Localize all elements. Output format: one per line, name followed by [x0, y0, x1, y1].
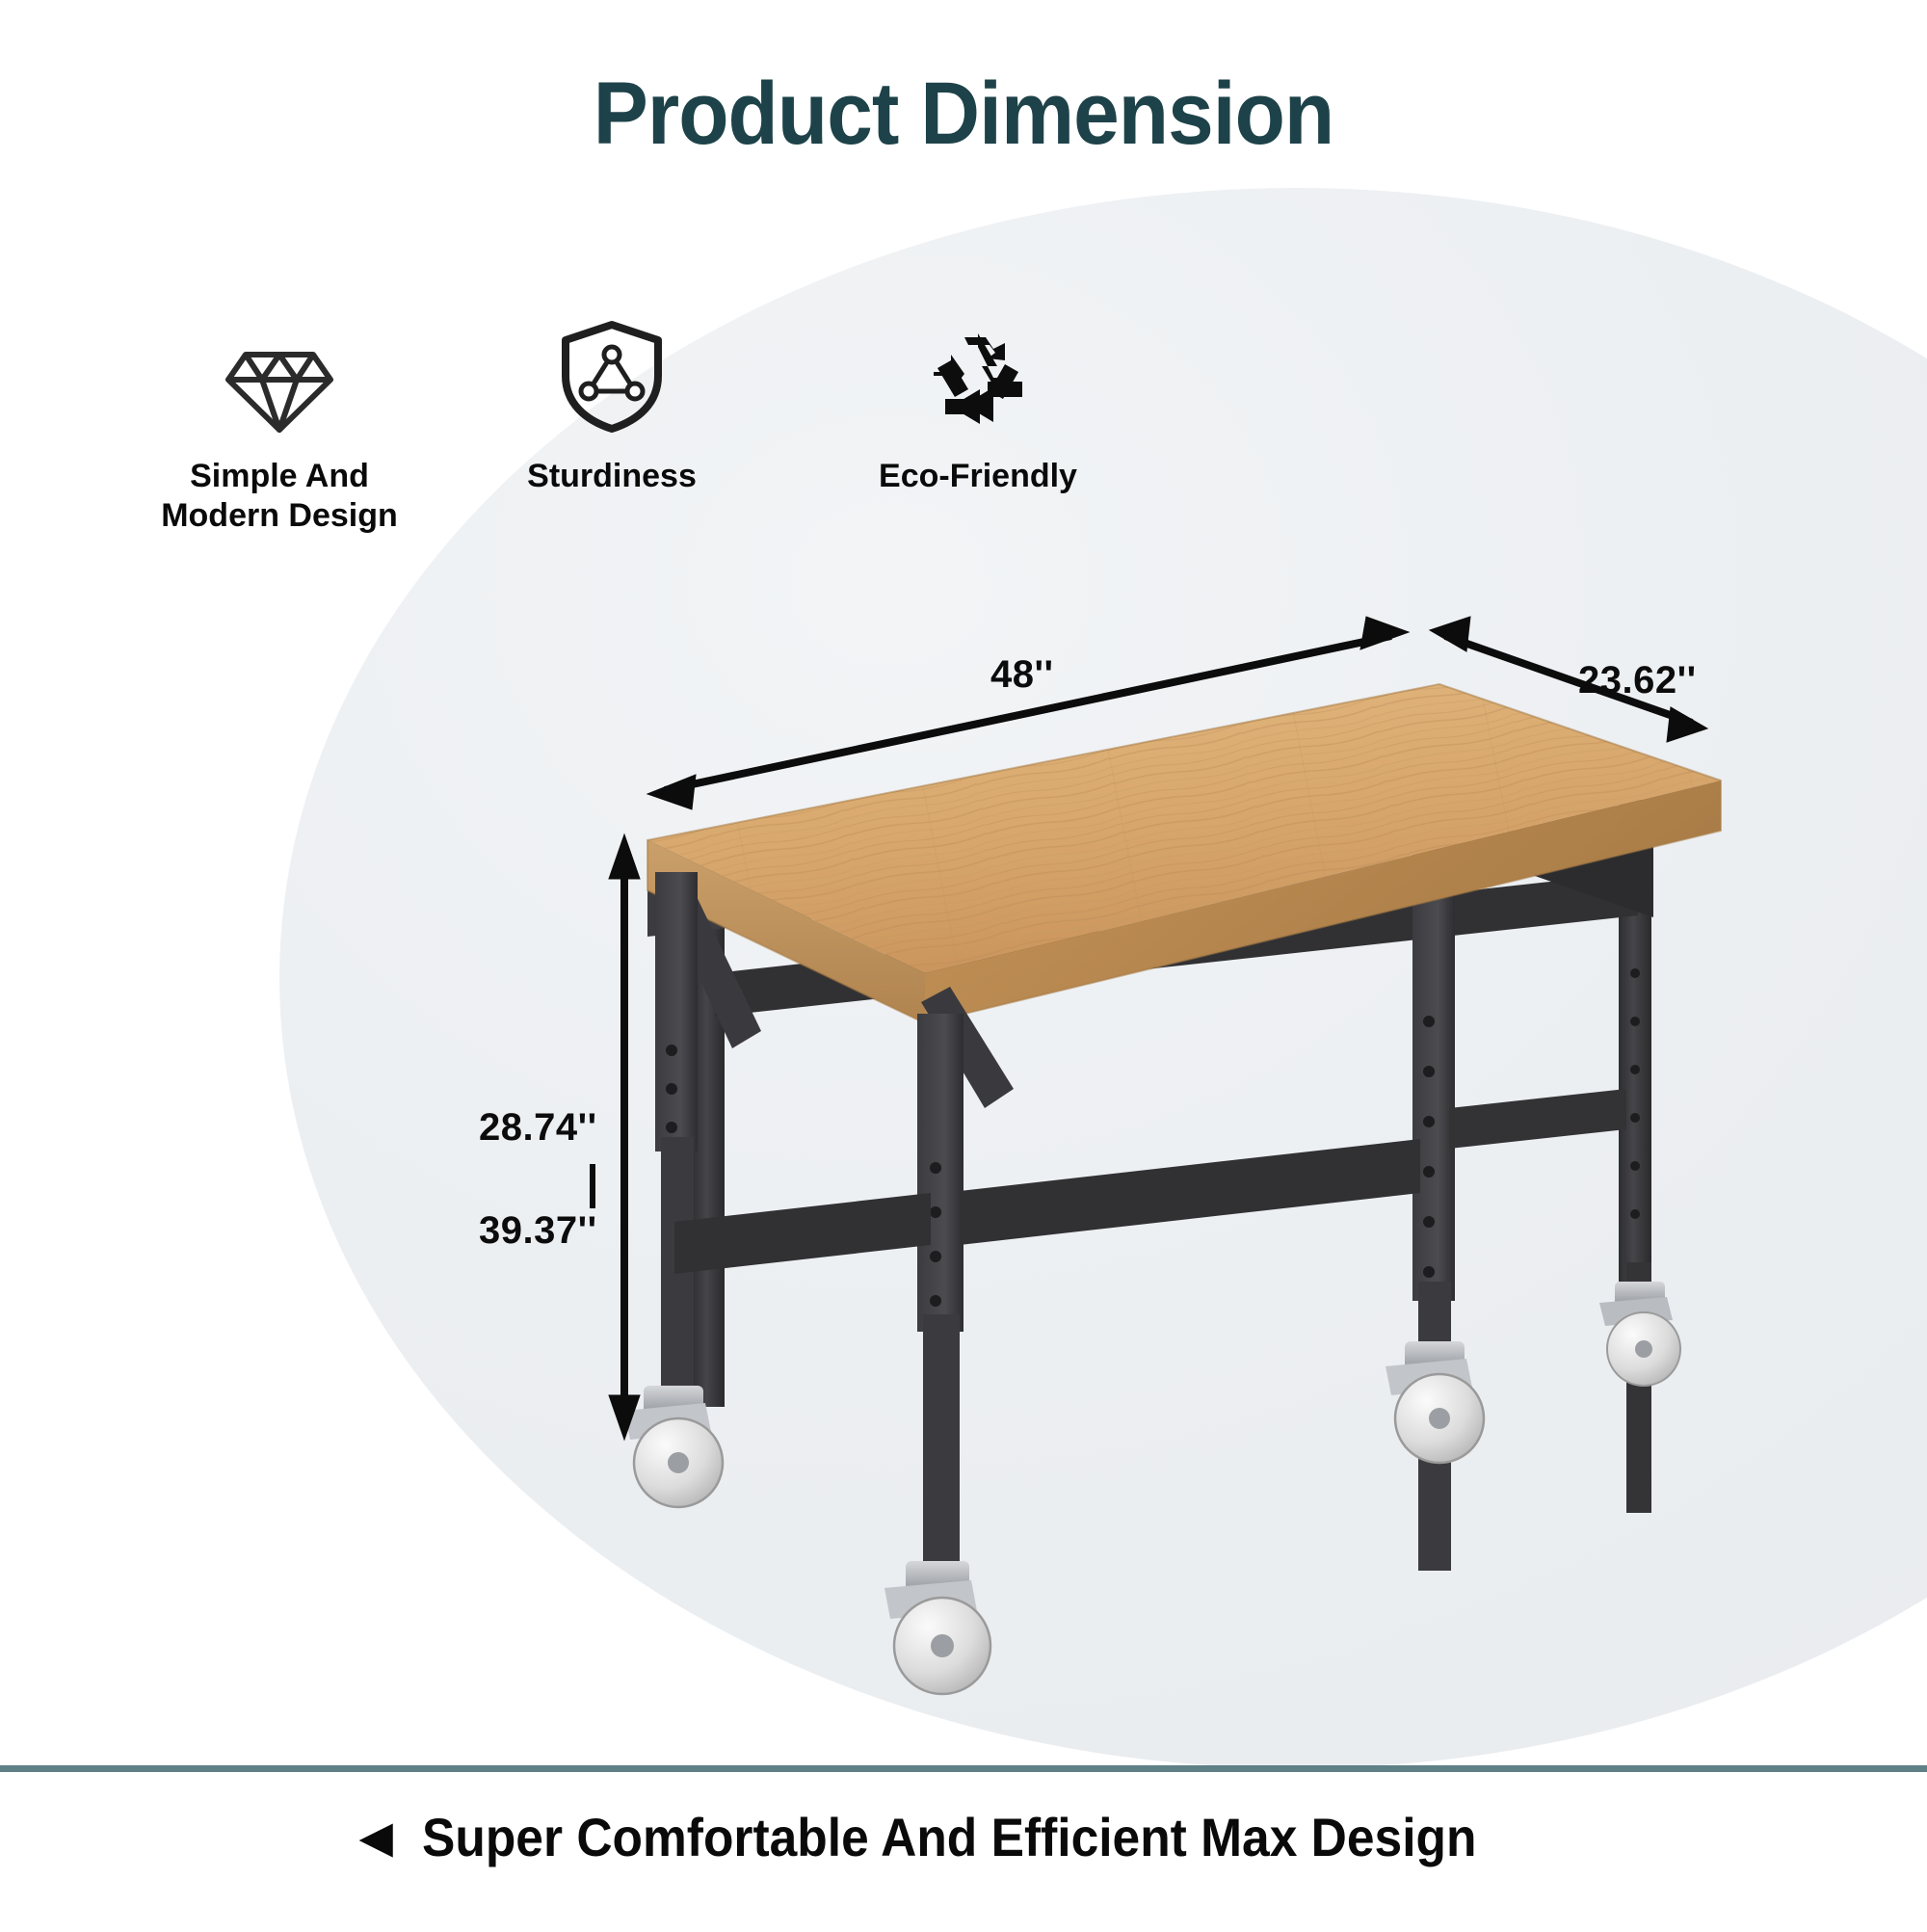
dimension-range-dash	[590, 1164, 595, 1208]
footer-divider	[0, 1765, 1927, 1772]
feature-label: Sturdiness	[453, 457, 771, 496]
product-illustration	[0, 0, 1927, 1927]
left-triangle-icon: ◀	[358, 1814, 392, 1859]
caster-front-right	[1386, 1341, 1484, 1463]
feature-sturdiness: Sturdiness	[453, 318, 771, 496]
feature-row: Simple And Modern Design Sturdiness	[0, 318, 1927, 578]
lower-stretcher-right	[960, 1139, 1420, 1245]
diamond-icon	[77, 318, 482, 434]
dimension-depth-label: 23.62''	[1578, 659, 1697, 702]
page-title: Product Dimension	[67, 69, 1860, 158]
footer-banner-text: Super Comfortable And Efficient Max Desi…	[422, 1806, 1476, 1868]
feature-label: Eco-Friendly	[771, 457, 1185, 496]
feature-eco-friendly: Eco-Friendly	[771, 318, 1185, 496]
shield-icon	[453, 318, 771, 434]
caster-rear-right	[1599, 1282, 1680, 1386]
footer-banner: ◀ Super Comfortable And Efficient Max De…	[0, 1779, 1927, 1894]
leg-front-center	[917, 987, 1014, 1594]
dimension-width-label: 48''	[990, 653, 1054, 697]
feature-simple-and-modern-design: Simple And Modern Design	[77, 318, 482, 537]
recycle-icon	[771, 318, 1185, 434]
dimension-height-max-label: 39.37''	[479, 1209, 597, 1253]
caster-front-center	[884, 1561, 990, 1694]
dimension-height-min-label: 28.74''	[479, 1106, 597, 1150]
feature-label: Simple And Modern Design	[77, 457, 482, 537]
